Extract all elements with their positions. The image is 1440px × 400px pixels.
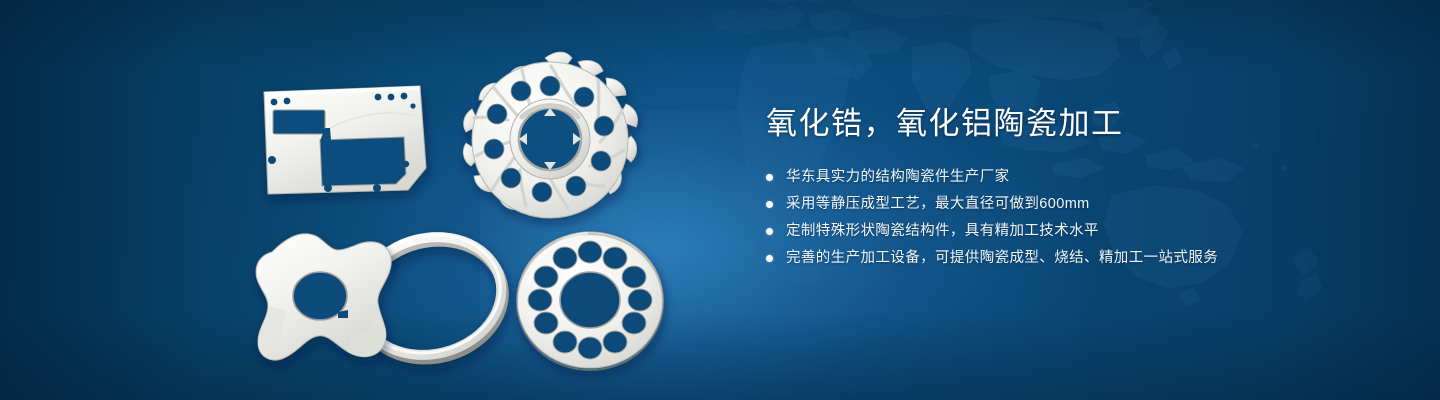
hero-banner: 氧化锆，氧化铝陶瓷加工 华东具实力的结构陶瓷件生产厂家 采用等静压成型工艺，最大… xyxy=(0,0,1440,400)
feature-text: 定制特殊形状陶瓷结构件，具有精加工技术水平 xyxy=(786,220,1099,242)
list-item: 采用等静压成型工艺，最大直径可做到600mm xyxy=(766,193,1386,215)
feature-text: 完善的生产加工设备，可提供陶瓷成型、烧结、精加工一站式服务 xyxy=(786,247,1218,269)
list-item: 定制特殊形状陶瓷结构件，具有精加工技术水平 xyxy=(766,220,1386,242)
list-item: 完善的生产加工设备，可提供陶瓷成型、烧结、精加工一站式服务 xyxy=(766,247,1386,269)
feature-list: 华东具实力的结构陶瓷件生产厂家 采用等静压成型工艺，最大直径可做到600mm 定… xyxy=(766,166,1386,269)
bullet-dot-icon xyxy=(766,228,773,235)
list-item: 华东具实力的结构陶瓷件生产厂家 xyxy=(766,166,1386,188)
feature-text: 采用等静压成型工艺，最大直径可做到600mm xyxy=(786,193,1090,215)
page-title: 氧化锆，氧化铝陶瓷加工 xyxy=(766,104,1386,144)
bullet-dot-icon xyxy=(766,201,773,208)
bullet-dot-icon xyxy=(766,255,773,262)
feature-text: 华东具实力的结构陶瓷件生产厂家 xyxy=(786,166,1010,188)
bullet-dot-icon xyxy=(766,174,773,181)
banner-copy: 氧化锆，氧化铝陶瓷加工 华东具实力的结构陶瓷件生产厂家 采用等静压成型工艺，最大… xyxy=(766,104,1386,274)
